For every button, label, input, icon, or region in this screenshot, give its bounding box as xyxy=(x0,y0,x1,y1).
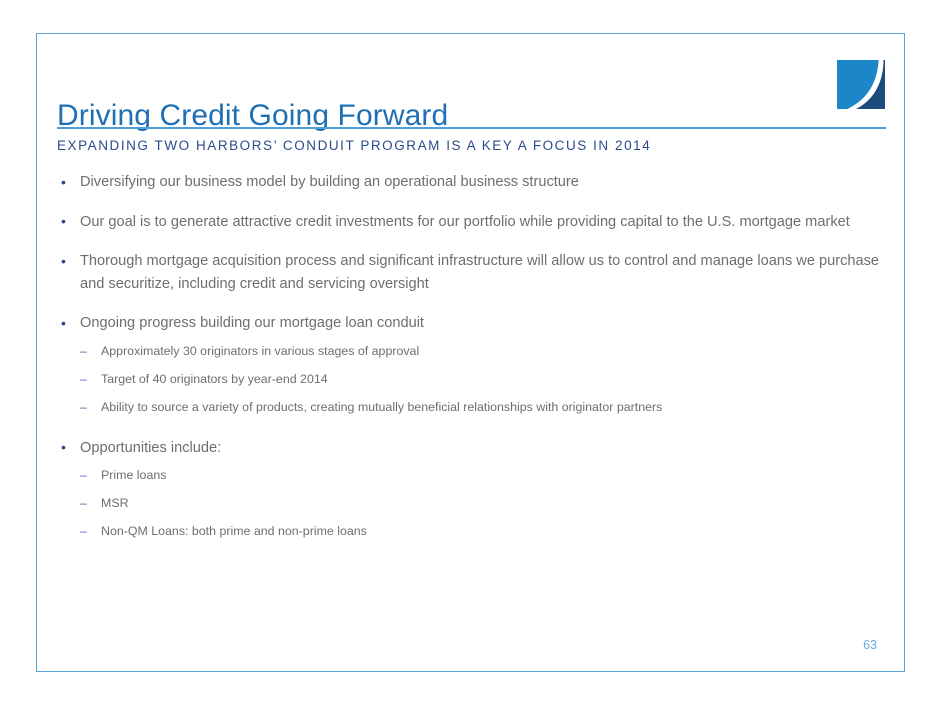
slide-border-frame: Driving Credit Going Forward EXPANDING T… xyxy=(36,33,905,672)
list-item: Prime loans xyxy=(57,466,897,485)
list-item: Approximately 30 originators in various … xyxy=(57,342,897,361)
list-item: Target of 40 originators by year-end 201… xyxy=(57,370,897,389)
slide-subtitle: EXPANDING TWO HARBORS’ CONDUIT PROGRAM I… xyxy=(57,138,651,153)
list-group-spacer xyxy=(57,426,897,437)
list-item: Opportunities include: xyxy=(57,437,897,460)
list-item: MSR xyxy=(57,494,897,513)
list-item: Thorough mortgage acquisition process an… xyxy=(57,250,897,295)
slide-canvas: Driving Credit Going Forward EXPANDING T… xyxy=(0,0,940,705)
list-item: Non-QM Loans: both prime and non-prime l… xyxy=(57,522,897,541)
title-divider-rule xyxy=(57,127,886,129)
list-item: Ability to source a variety of products,… xyxy=(57,398,897,417)
list-item: Ongoing progress building our mortgage l… xyxy=(57,312,897,335)
list-item: Our goal is to generate attractive credi… xyxy=(57,211,897,234)
page-number: 63 xyxy=(863,638,877,652)
bullet-list: Diversifying our business model by build… xyxy=(57,171,897,550)
list-item: Diversifying our business model by build… xyxy=(57,171,897,194)
two-harbors-logo-icon xyxy=(837,60,885,109)
